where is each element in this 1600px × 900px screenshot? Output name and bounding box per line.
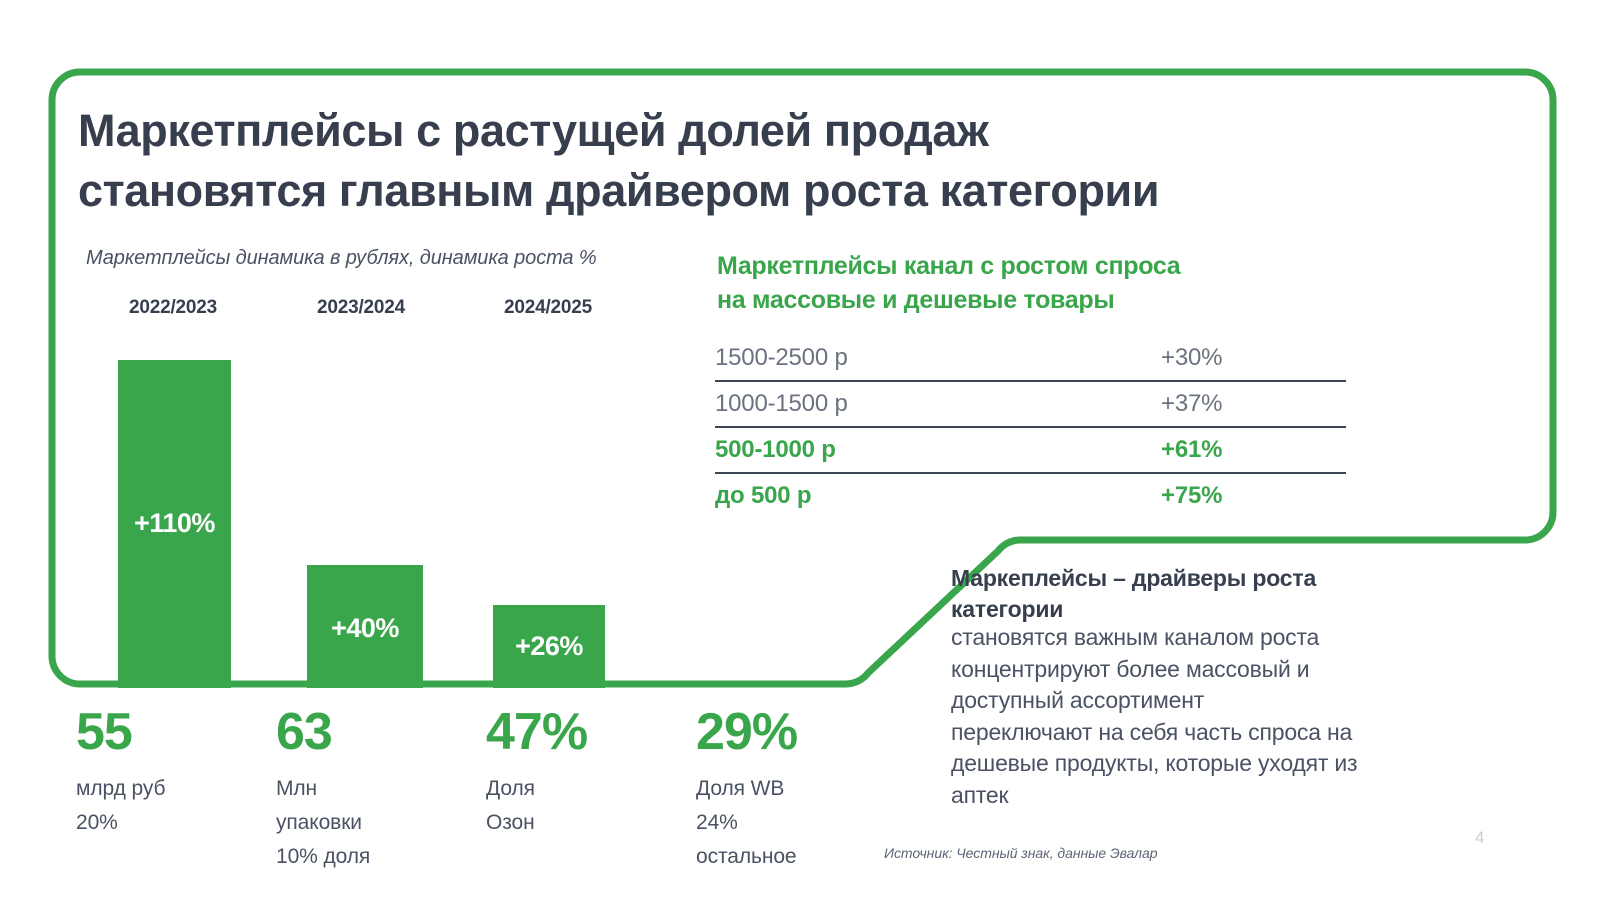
table-row: 1000-1500 р +37% xyxy=(715,382,1346,428)
kpi-value-0: 55 xyxy=(76,705,256,760)
notes-title: Маркеплейсы – драйверы роста категории xyxy=(951,563,1491,625)
price-growth-table: 1500-2500 р +30% 1000-1500 р +37% 500-10… xyxy=(715,336,1346,518)
table-row: до 500 р +75% xyxy=(715,474,1346,518)
kpi-value-2: 47% xyxy=(486,705,676,760)
kpi-card-2: 47% Доля Озон xyxy=(486,705,676,840)
price-range-label: 1000-1500 р xyxy=(715,390,1161,418)
notes-line: дешевые продукты, которые уходят из xyxy=(951,748,1496,779)
kpi-desc-2: Доля Озон xyxy=(486,772,676,840)
price-panel-heading: Маркетплейсы канал с ростом спроса на ма… xyxy=(717,250,1377,318)
kpi-desc-1: Млн упаковки 10% доля xyxy=(276,772,466,874)
notes-line: доступный ассортимент xyxy=(951,685,1496,716)
chart-category-label-0: 2022/2023 xyxy=(108,297,238,319)
price-growth-value: +75% xyxy=(1161,482,1346,510)
chart-category-label-2: 2024/2025 xyxy=(483,297,613,319)
chart-category-label-1: 2023/2024 xyxy=(296,297,426,319)
chart-bar-value-2: +26% xyxy=(493,631,605,662)
notes-line: переключают на себя часть спроса на xyxy=(951,717,1496,748)
notes-line: концентрируют более массовый и xyxy=(951,654,1496,685)
price-growth-value: +61% xyxy=(1161,436,1346,464)
kpi-value-1: 63 xyxy=(276,705,466,760)
slide-canvas: Маркетплейсы с растущей долей продаж ста… xyxy=(0,0,1600,900)
kpi-card-3: 29% Доля WB 24% остальное xyxy=(696,705,896,874)
table-row: 1500-2500 р +30% xyxy=(715,336,1346,382)
price-growth-value: +37% xyxy=(1161,390,1346,418)
chart-caption: Маркетплейсы динамика в рублях, динамика… xyxy=(86,247,597,270)
kpi-card-1: 63 Млн упаковки 10% доля xyxy=(276,705,466,874)
kpi-card-0: 55 млрд руб 20% xyxy=(76,705,256,840)
price-range-label: 1500-2500 р xyxy=(715,344,1161,372)
kpi-desc-0: млрд руб 20% xyxy=(76,772,256,840)
chart-bar-value-0: +110% xyxy=(118,508,231,539)
price-range-label: до 500 р xyxy=(715,482,1161,510)
price-range-label: 500-1000 р xyxy=(715,436,1161,464)
notes-line: становятся важным каналом роста xyxy=(951,622,1496,653)
kpi-desc-3: Доля WB 24% остальное xyxy=(696,772,896,874)
chart-bar-value-1: +40% xyxy=(307,613,423,644)
source-note: Источник: Честный знак, данные Эвалар xyxy=(884,845,1157,861)
notes-body: становятся важным каналом роста концентр… xyxy=(951,622,1496,811)
price-growth-value: +30% xyxy=(1161,344,1346,372)
table-row: 500-1000 р +61% xyxy=(715,428,1346,474)
kpi-value-3: 29% xyxy=(696,705,896,760)
slide-title: Маркетплейсы с растущей долей продаж ста… xyxy=(78,101,1478,221)
page-number: 4 xyxy=(1475,828,1484,848)
notes-line: аптек xyxy=(951,780,1496,811)
